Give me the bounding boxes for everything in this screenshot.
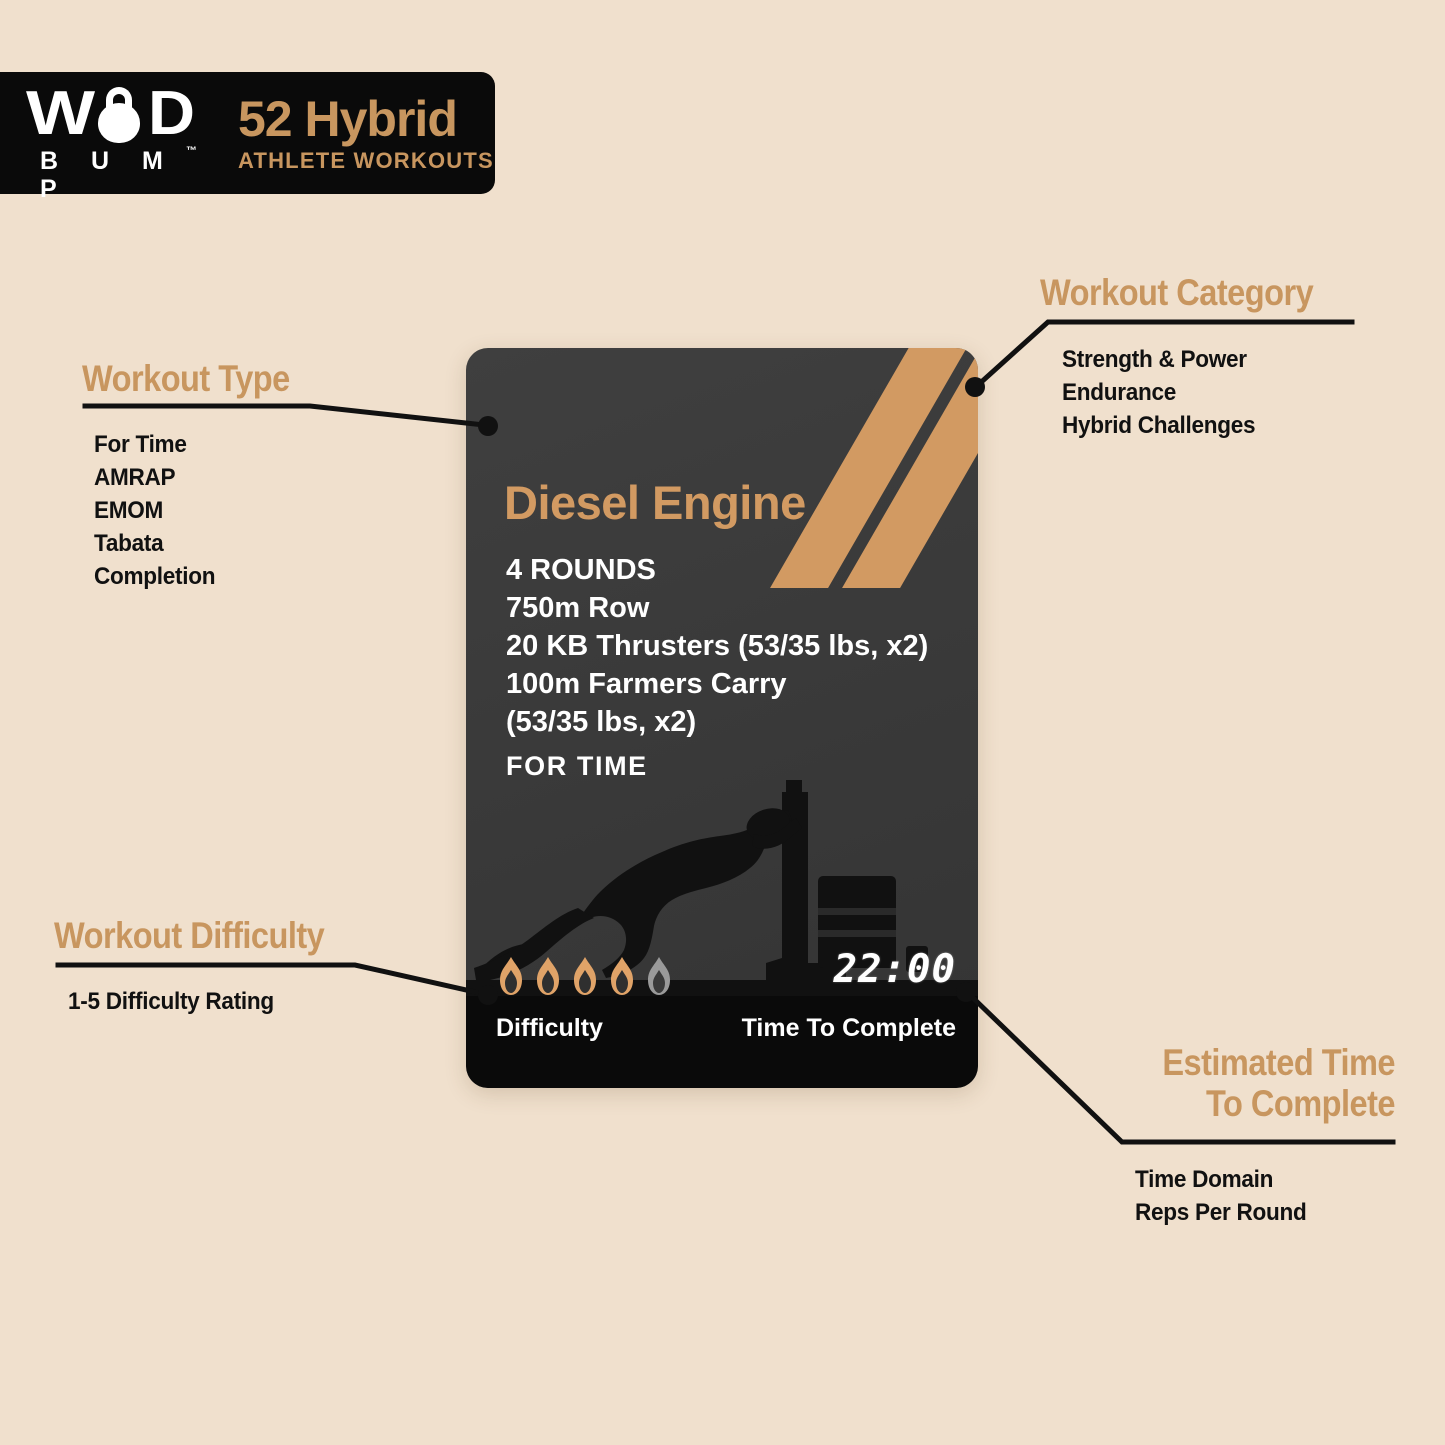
list-item: EMOM [94,494,215,527]
list-item: Tabata [94,527,215,560]
annotation-list-workout-category: Strength & Power Endurance Hybrid Challe… [1062,343,1255,442]
annotation-heading-estimated-time: Estimated Time To Complete [1122,1042,1395,1124]
infographic-page: W D B U M P ™ 52 Hybrid ATHLETE WORKOUTS [0,0,1445,1445]
kettlebell-handle [106,87,132,111]
movement-line: 20 KB Thrusters (53/35 lbs, x2) [506,627,956,665]
list-item: Strength & Power [1062,343,1255,376]
movement-line: (53/35 lbs, x2) [506,703,956,741]
difficulty-rating-flames [496,956,674,996]
flame-icon-4 [607,956,637,996]
workout-card[interactable]: FOR TIME Diesel Engine 4 ROUNDS 750m Row… [466,348,978,1088]
kettlebell-icon [93,87,145,143]
annotation-heading-workout-difficulty: Workout Difficulty [54,915,324,956]
annotation-heading-workout-category: Workout Category [1040,272,1313,313]
flame-icon-5-unlit [644,956,674,996]
movement-line: 100m Farmers Carry [506,665,956,703]
annotation-heading-workout-type: Workout Type [82,358,290,399]
flame-icon-2 [533,956,563,996]
annotation-list-workout-difficulty: 1-5 Difficulty Rating [68,985,274,1018]
movement-line: 4 ROUNDS [506,551,956,589]
list-item: Endurance [1062,376,1255,409]
brand-subtitle: ATHLETE WORKOUTS [238,148,494,174]
heading-line-2: To Complete [1122,1083,1395,1124]
list-item: Hybrid Challenges [1062,409,1255,442]
flame-icon-3 [570,956,600,996]
movement-line: 750m Row [506,589,956,627]
list-item: AMRAP [94,461,215,494]
wodbump-logo-mark: W D B U M P ™ [26,83,216,183]
difficulty-label: Difficulty [496,1014,603,1043]
logo-letter-d: D [148,85,193,143]
trademark-symbol: ™ [186,145,197,157]
card-footer-bar: Difficulty Time To Complete [466,996,978,1088]
brand-title-block: 52 Hybrid ATHLETE WORKOUTS [238,92,494,174]
list-item: 1-5 Difficulty Rating [68,985,274,1018]
workout-movement-list: 4 ROUNDS 750m Row 20 KB Thrusters (53/35… [506,551,956,741]
workout-name: Diesel Engine [504,475,806,530]
brand-logo-bar: W D B U M P ™ 52 Hybrid ATHLETE WORKOUTS [0,72,495,194]
annotation-list-workout-type: For Time AMRAP EMOM Tabata Completion [94,428,215,593]
time-to-complete-value: 22:00 [834,947,956,992]
list-item: Reps Per Round [1135,1196,1307,1229]
workout-type-badge: FOR TIME [506,751,648,782]
annotation-list-estimated-time: Time Domain Reps Per Round [1135,1163,1307,1229]
wod-wordmark: W D [26,85,216,143]
logo-letter-w: W [26,85,93,143]
list-item: Completion [94,560,215,593]
time-to-complete-label: Time To Complete [742,1014,956,1043]
heading-line-1: Estimated Time [1122,1042,1395,1083]
list-item: Time Domain [1135,1163,1307,1196]
flame-icon-1 [496,956,526,996]
brand-title: 52 Hybrid [238,92,494,146]
list-item: For Time [94,428,215,461]
